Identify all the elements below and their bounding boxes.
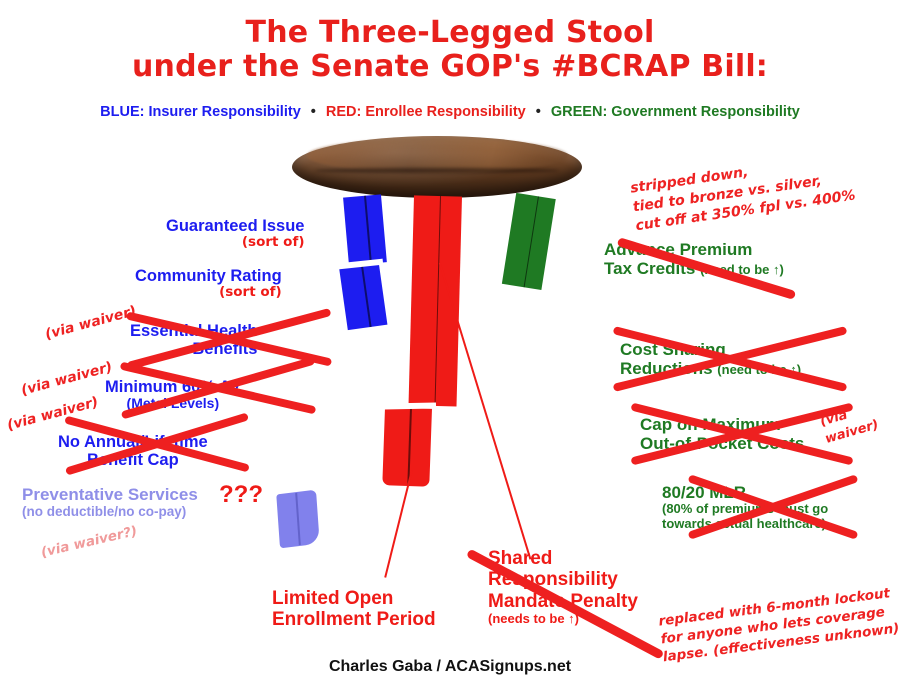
- annotation-waiver-preventative: (via waiver?): [39, 522, 139, 562]
- stool-leg-government: [502, 193, 556, 290]
- government-item-label-line3: towards actual healthcare): [662, 517, 828, 532]
- government-item-note: (need to be ↑): [717, 362, 801, 377]
- pointer-line-mandate: [439, 263, 531, 560]
- government-item-oop-cap: Cap on Maximum Out-of-Pocket Costs: [640, 415, 804, 453]
- insurer-item-community-rating: Community Rating (sort of): [135, 267, 282, 301]
- insurer-item-label-line2: Benefits: [130, 340, 257, 358]
- legend-item-red: RED: Enrollee Responsibility: [326, 104, 526, 120]
- page-title-line2: under the Senate GOP's #BCRAP Bill:: [0, 50, 900, 84]
- enrollee-item-limited-open-enrollment: Limited Open Enrollment Period: [272, 588, 436, 631]
- stool-leg-insurer-upper: [343, 194, 387, 265]
- enrollee-item-label-line1: Limited Open: [272, 588, 436, 609]
- insurer-item-label-line1: Preventative Services: [22, 485, 198, 504]
- insurer-item-note: (sort of): [166, 235, 304, 250]
- government-item-label-line2: (80% of premiums must go: [662, 502, 828, 517]
- stool-leg-enrollee-lower: [382, 407, 432, 487]
- leg-seam: [361, 265, 371, 327]
- insurer-item-no-benefit-cap: No Annual/Lifetime Benefit Cap: [58, 433, 208, 470]
- credit-line: Charles Gaba / ACASignups.net: [0, 658, 900, 676]
- annotation-mandate-replacement: replaced with 6-month lockout for anyone…: [658, 584, 900, 667]
- pointer-line-open-enrollment: [385, 471, 413, 578]
- insurer-item-label: Guaranteed Issue: [166, 217, 304, 235]
- insurer-item-minimum-av: Minimum 60% AV (Metal Levels): [105, 378, 241, 412]
- insurer-item-preventative-services: Preventative Services (no deductible/no …: [22, 485, 198, 519]
- insurer-item-guaranteed-issue: Guaranteed Issue (sort of): [166, 217, 304, 251]
- annotation-waiver-ehb: (via waiver): [43, 302, 138, 345]
- insurer-item-note: (sort of): [135, 285, 282, 300]
- leg-seam: [364, 196, 371, 264]
- stool-leg-insurer-lower: [339, 263, 387, 330]
- leg-seam: [523, 196, 539, 287]
- government-item-label-line1: Cost Sharing: [620, 340, 801, 359]
- page-title-line1: The Three-Legged Stool: [0, 16, 900, 50]
- legend: BLUE: Insurer Responsibility • RED: Enro…: [0, 104, 900, 120]
- insurer-item-question-marks: ???: [219, 482, 263, 509]
- stool-seat: [292, 136, 582, 198]
- leg-seam: [434, 196, 441, 406]
- insurer-item-label-line2: (Metal Levels): [105, 396, 241, 412]
- insurer-item-label: Community Rating: [135, 267, 282, 285]
- enrollee-item-label-line1: Shared: [488, 548, 638, 569]
- enrollee-item-note: (needs to be ↑): [488, 612, 638, 627]
- leg-seam: [295, 493, 300, 545]
- insurer-item-label-line1: Minimum 60% AV: [105, 378, 241, 396]
- stool-leg-enrollee-upper: [409, 195, 462, 406]
- leg-crack-enrollee: [384, 403, 436, 410]
- insurer-item-label-line1: Essential Health: [130, 322, 257, 340]
- insurer-item-essential-health-benefits: Essential Health Benefits: [130, 322, 257, 359]
- government-item-label-line1: 80/20 MLR: [662, 483, 828, 502]
- legend-item-blue: BLUE: Insurer Responsibility: [100, 104, 301, 120]
- annotation-waiver-oop: (via waiver): [818, 399, 880, 448]
- government-item-label-line2: Out-of-Pocket Costs: [640, 434, 804, 453]
- insurer-item-label-line1: No Annual/Lifetime: [58, 433, 208, 451]
- legend-item-green: GREEN: Government Responsibility: [551, 104, 800, 120]
- annotation-waiver-av: (via waiver): [19, 358, 114, 401]
- government-item-label-line2-text: Reductions: [620, 359, 713, 378]
- insurer-item-label-line2: Benefit Cap: [58, 451, 208, 469]
- government-item-mlr: 80/20 MLR (80% of premiums must go towar…: [662, 483, 828, 531]
- legend-separator-1: •: [305, 104, 322, 120]
- enrollee-item-shared-responsibility-mandate: Shared Responsibility Mandate Penalty (n…: [488, 548, 638, 626]
- enrollee-item-label-line2: Enrollment Period: [272, 609, 436, 630]
- government-item-cost-sharing-reductions: Cost Sharing Reductions (need to be ↑): [620, 340, 801, 378]
- government-item-label-line1: Cap on Maximum: [640, 415, 804, 434]
- government-item-label-line2: Reductions (need to be ↑): [620, 359, 801, 378]
- annotation-waiver-benefit-cap: (via waiver): [5, 393, 100, 436]
- annotation-aptc-detail: stripped down, tied to bronze vs. silver…: [629, 149, 857, 236]
- infographic-canvas: The Three-Legged Stool under the Senate …: [0, 0, 900, 690]
- insurer-item-label-line2: (no deductible/no co-pay): [22, 504, 198, 519]
- legend-separator-2: •: [530, 104, 547, 120]
- stool-leg-fragment-preventative: [276, 490, 319, 549]
